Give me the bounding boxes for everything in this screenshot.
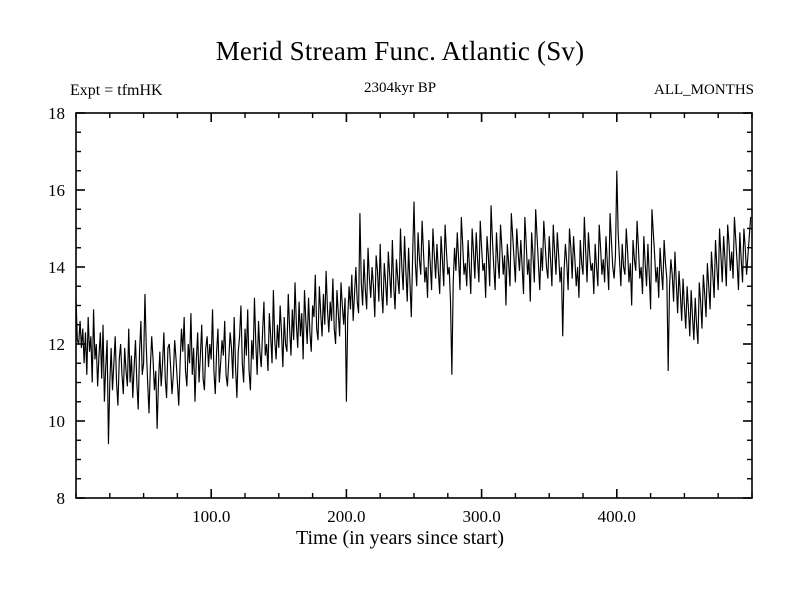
y-tick-label: 18	[48, 104, 65, 123]
tick-labels-group: 81012141618100.0200.0300.0400.0	[48, 104, 636, 526]
y-tick-label: 14	[48, 258, 66, 277]
plot-area: 81012141618100.0200.0300.0400.0	[0, 0, 800, 600]
y-tick-label: 10	[48, 412, 65, 431]
y-tick-label: 8	[57, 489, 66, 508]
x-tick-label: 200.0	[327, 507, 365, 526]
x-tick-label: 400.0	[598, 507, 636, 526]
x-tick-label: 300.0	[462, 507, 500, 526]
data-series-line	[76, 171, 751, 444]
y-tick-label: 12	[48, 335, 65, 354]
y-tick-label: 16	[48, 181, 65, 200]
x-tick-label: 100.0	[192, 507, 230, 526]
figure-canvas: Merid Stream Func. Atlantic (Sv) Expt = …	[0, 0, 800, 600]
x-axis-label: Time (in years since start)	[0, 527, 800, 550]
